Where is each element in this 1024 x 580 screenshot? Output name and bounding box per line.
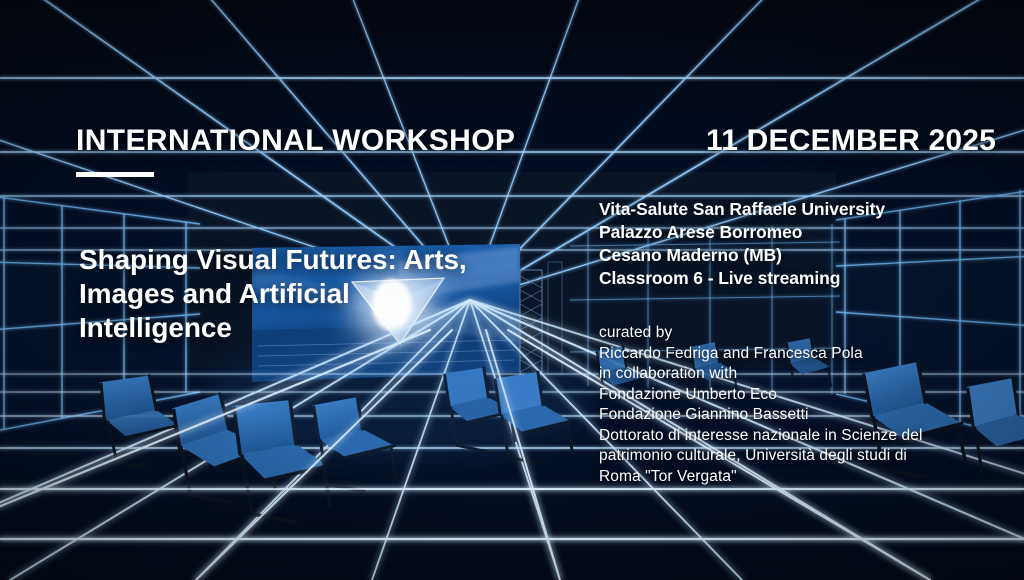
venue-block: Vita-Salute San Raffaele University Pala… [599,198,1019,290]
credits-line: Dottorato di interesse nazionale in Scie… [599,426,1019,447]
credits-block: curated by Riccardo Fedriga and Francesc… [599,323,1019,487]
credits-line: Fondazione Giannino Bassetti [599,405,1019,426]
venue-line: Vita-Salute San Raffaele University [599,198,1019,221]
title-line: Images and Artificial [79,277,549,311]
credits-line: in collaboration with [599,364,1019,385]
title-line: Intelligence [79,311,549,345]
kicker-underline-rule [76,172,154,177]
credits-line: Roma "Tor Vergata" [599,467,1019,488]
venue-line: Cesano Maderno (MB) [599,244,1019,267]
credits-line: curated by [599,323,1019,344]
event-date: 11 DECEMBER 2025 [706,124,996,158]
title-line: Shaping Visual Futures: Arts, [79,243,549,277]
credits-line: Fondazione Umberto Eco [599,385,1019,406]
page-title: Shaping Visual Futures: Arts, Images and… [79,243,549,345]
kicker-label: INTERNATIONAL WORKSHOP [76,124,515,158]
poster-root: INTERNATIONAL WORKSHOP 11 DECEMBER 2025 … [0,0,1024,580]
credits-line: patrimonio culturale, Università degli s… [599,446,1019,467]
poster-content: INTERNATIONAL WORKSHOP 11 DECEMBER 2025 … [0,0,1024,580]
venue-line: Classroom 6 - Live streaming [599,267,1019,290]
venue-line: Palazzo Arese Borromeo [599,221,1019,244]
credits-line: Riccardo Fedriga and Francesca Pola [599,344,1019,365]
